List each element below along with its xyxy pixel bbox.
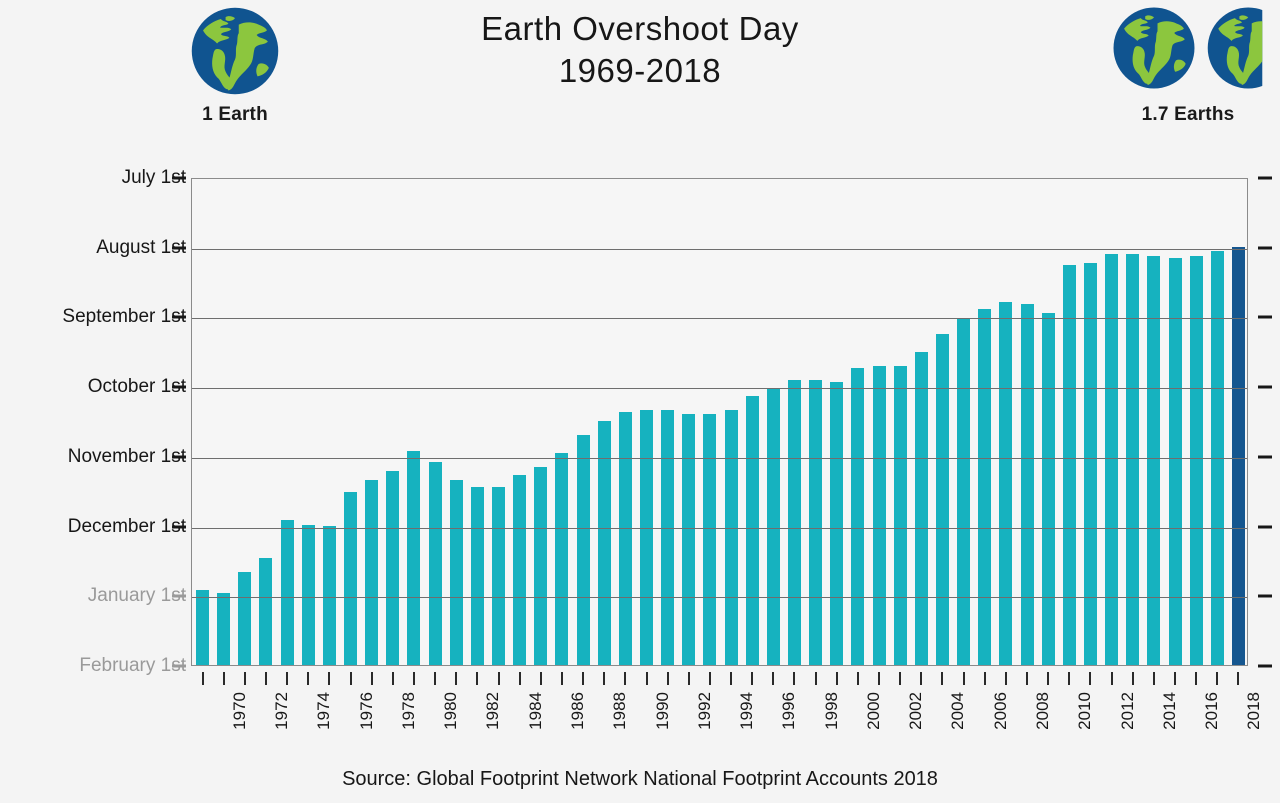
bar-2004[interactable] [936, 334, 949, 665]
x-axis-tick-label: 2000 [864, 692, 884, 730]
x-axis-tick-label: 1988 [610, 692, 630, 730]
x-axis-tick-mark [244, 672, 246, 685]
x-axis-tick-mark [709, 672, 711, 685]
bar-1987[interactable] [577, 435, 590, 665]
y-axis-tick-mark [172, 665, 186, 668]
x-axis-tick-label: 2014 [1160, 692, 1180, 730]
bar-2014[interactable] [1147, 256, 1160, 665]
bar-2002[interactable] [894, 366, 907, 665]
plot-area [191, 178, 1248, 666]
bar-2013[interactable] [1126, 254, 1139, 665]
x-axis-tick-label: 2002 [906, 692, 926, 730]
x-axis-tick-mark [941, 672, 943, 685]
bar-2010[interactable] [1063, 265, 1076, 665]
x-axis-tick-mark [476, 672, 478, 685]
bar-2008[interactable] [1021, 304, 1034, 665]
y-axis-tick-label: November 1st [68, 446, 186, 468]
x-axis-tick-mark [328, 672, 330, 685]
bar-1993[interactable] [703, 414, 716, 665]
bar-2007[interactable] [999, 302, 1012, 665]
x-axis-tick-mark [1174, 672, 1176, 685]
x-axis-tick-mark [857, 672, 859, 685]
y-axis-tick-mark [172, 386, 186, 389]
bar-1975[interactable] [323, 526, 336, 665]
x-axis-tick-mark [392, 672, 394, 685]
x-axis-tick-mark [582, 672, 584, 685]
y-axis-tick-mark [172, 455, 186, 458]
y-axis-tick-mark-right [1258, 316, 1272, 319]
x-axis-tick-mark [1005, 672, 1007, 685]
bar-1979[interactable] [407, 451, 420, 665]
bar-1973[interactable] [281, 520, 294, 665]
x-axis-tick-mark [1153, 672, 1155, 685]
x-axis-tick-label: 2018 [1244, 692, 1264, 730]
x-axis-tick-mark [772, 672, 774, 685]
x-axis-tick-mark [498, 672, 500, 685]
x-axis-tick-mark [1089, 672, 1091, 685]
x-axis-tick-label: 1984 [526, 692, 546, 730]
x-axis-tick-label: 1974 [314, 692, 334, 730]
x-axis-tick-mark [1068, 672, 1070, 685]
x-axis-tick-mark [646, 672, 648, 685]
bar-2016[interactable] [1190, 256, 1203, 665]
y-axis-tick-mark [172, 246, 186, 249]
x-axis-tick-mark [984, 672, 986, 685]
x-axis-tick-label: 2006 [991, 692, 1011, 730]
y-axis-tick-mark-right [1258, 177, 1272, 180]
x-axis-tick-label: 1978 [399, 692, 419, 730]
bar-1981[interactable] [450, 480, 463, 665]
x-axis-tick-label: 2012 [1118, 692, 1138, 730]
x-axis-tick-mark [1047, 672, 1049, 685]
bar-1998[interactable] [809, 380, 822, 665]
bar-1999[interactable] [830, 382, 843, 665]
x-axis-tick-mark [899, 672, 901, 685]
bar-1992[interactable] [682, 414, 695, 665]
bar-1974[interactable] [302, 525, 315, 665]
y-axis-tick-label: December 1st [68, 516, 186, 538]
x-axis-tick-mark [688, 672, 690, 685]
bar-1972[interactable] [259, 558, 272, 665]
x-axis-tick-mark [751, 672, 753, 685]
x-axis-tick-mark [265, 672, 267, 685]
x-axis-tick-label: 1992 [695, 692, 715, 730]
bar-1978[interactable] [386, 471, 399, 665]
bar-2006[interactable] [978, 309, 991, 665]
x-axis-tick-mark [371, 672, 373, 685]
x-axis-tick-mark [350, 672, 352, 685]
bar-1997[interactable] [788, 380, 801, 665]
x-axis-tick-mark [561, 672, 563, 685]
y-axis-tick-label: February 1st [79, 655, 186, 677]
bar-2001[interactable] [873, 366, 886, 665]
x-axis-tick-mark [1195, 672, 1197, 685]
x-axis-tick-label: 1990 [653, 692, 673, 730]
y-axis-tick-mark [172, 177, 186, 180]
gridline [192, 458, 1247, 459]
x-axis-tick-label: 2004 [948, 692, 968, 730]
bar-2018[interactable] [1232, 247, 1245, 665]
bar-2012[interactable] [1105, 254, 1118, 665]
x-axis-tick-mark [667, 672, 669, 685]
bar-1990[interactable] [640, 410, 653, 665]
y-axis-tick-mark-right [1258, 455, 1272, 458]
bar-1970[interactable] [217, 593, 230, 666]
x-axis-tick-mark [1026, 672, 1028, 685]
x-axis-tick-mark [963, 672, 965, 685]
bar-1986[interactable] [555, 453, 568, 665]
x-axis-tick-mark [815, 672, 817, 685]
x-axis-tick-mark [730, 672, 732, 685]
y-axis-tick-mark-right [1258, 246, 1272, 249]
bar-1994[interactable] [725, 410, 738, 665]
y-axis-tick-mark-right [1258, 595, 1272, 598]
x-axis-tick-label: 1994 [737, 692, 757, 730]
x-axis-tick-mark [603, 672, 605, 685]
x-axis-tick-label: 1996 [779, 692, 799, 730]
gridline [192, 318, 1247, 319]
bar-1976[interactable] [344, 492, 357, 665]
bar-1980[interactable] [429, 462, 442, 665]
y-axis-tick-mark [172, 595, 186, 598]
y-axis-tick-label: September 1st [62, 306, 186, 328]
x-axis-tick-mark [1216, 672, 1218, 685]
x-axis-tick-label: 1972 [272, 692, 292, 730]
x-axis-tick-mark [793, 672, 795, 685]
x-axis-tick-label: 2008 [1033, 692, 1053, 730]
y-axis-tick-mark-right [1258, 386, 1272, 389]
x-axis-tick-mark [1132, 672, 1134, 685]
x-axis-tick-mark [286, 672, 288, 685]
gridline [192, 597, 1247, 598]
x-axis-tick-label: 1976 [357, 692, 377, 730]
x-axis-tick-mark [307, 672, 309, 685]
x-axis-tick-mark [223, 672, 225, 685]
y-axis-tick-mark [172, 316, 186, 319]
bar-1995[interactable] [746, 396, 759, 665]
y-axis-tick-mark [172, 525, 186, 528]
gridline [192, 249, 1247, 250]
x-axis-tick-mark [1111, 672, 1113, 685]
bar-1989[interactable] [619, 412, 632, 665]
bar-2005[interactable] [957, 318, 970, 665]
bar-1984[interactable] [513, 475, 526, 665]
bar-series [192, 179, 1247, 665]
x-axis-tick-mark [413, 672, 415, 685]
bar-1991[interactable] [661, 410, 674, 665]
x-axis-tick-mark [519, 672, 521, 685]
y-axis-tick-mark-right [1258, 525, 1272, 528]
earth-overshoot-day-bar-chart: July 1stAugust 1stSeptember 1stOctober 1… [0, 0, 1280, 803]
bar-1977[interactable] [365, 480, 378, 665]
x-axis-tick-label: 2016 [1202, 692, 1222, 730]
bar-1971[interactable] [238, 572, 251, 665]
bar-2009[interactable] [1042, 313, 1055, 665]
bar-1983[interactable] [492, 487, 505, 665]
bar-2000[interactable] [851, 368, 864, 665]
bar-1985[interactable] [534, 467, 547, 665]
x-axis-tick-mark [624, 672, 626, 685]
bar-1982[interactable] [471, 487, 484, 665]
gridline [192, 388, 1247, 389]
x-axis-tick-label: 1986 [568, 692, 588, 730]
y-axis-tick-mark-right [1258, 665, 1272, 668]
x-axis-tick-label: 1980 [441, 692, 461, 730]
x-axis-tick-mark [434, 672, 436, 685]
bar-2003[interactable] [915, 352, 928, 665]
x-axis-tick-mark [1237, 672, 1239, 685]
x-axis-tick-label: 1998 [822, 692, 842, 730]
bar-2011[interactable] [1084, 263, 1097, 665]
x-axis-tick-mark [878, 672, 880, 685]
x-axis-tick-mark [202, 672, 204, 685]
x-axis-tick-label: 1982 [483, 692, 503, 730]
x-axis-tick-label: 1970 [230, 692, 250, 730]
gridline [192, 528, 1247, 529]
source-note: Source: Global Footprint Network Nationa… [0, 768, 1280, 791]
x-axis-tick-mark [836, 672, 838, 685]
x-axis-tick-mark [920, 672, 922, 685]
bar-1969[interactable] [196, 590, 209, 665]
x-axis-tick-mark [540, 672, 542, 685]
x-axis-tick-mark [455, 672, 457, 685]
x-axis-tick-label: 2010 [1075, 692, 1095, 730]
